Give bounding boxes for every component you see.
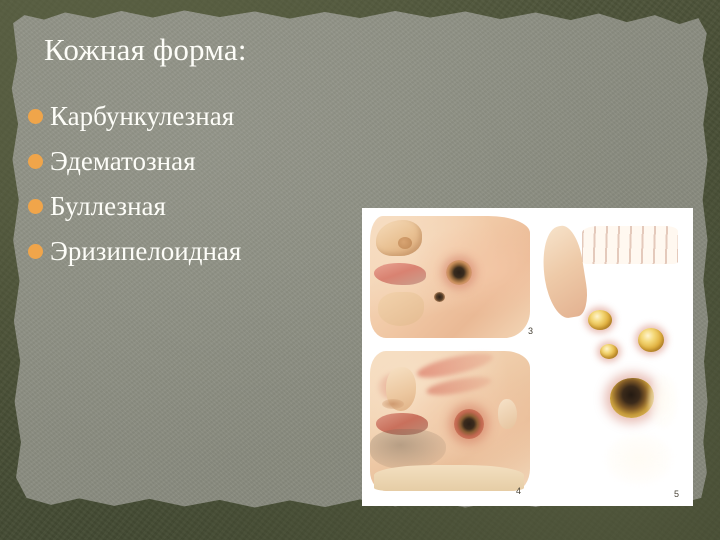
figure-panel-4-frontal-face — [370, 351, 530, 491]
nostril-shape — [398, 237, 412, 249]
list-item-label: Буллезная — [50, 193, 166, 220]
bullet-dot-icon — [28, 109, 43, 124]
list-item[interactable]: Эдематозная — [28, 139, 378, 184]
neck-lesion — [454, 409, 484, 439]
carbuncle-lesion-small — [434, 292, 445, 302]
list-item[interactable]: Эризипелоидная — [28, 229, 378, 274]
figure-panel-3-side-face — [370, 216, 530, 338]
vesicle-lesion — [638, 328, 664, 352]
list-item-label: Карбункулезная — [50, 103, 234, 130]
chin-shape — [378, 292, 424, 326]
figure-label-4: 4 — [516, 486, 521, 496]
vesicle-lesion — [600, 344, 618, 359]
list-item-label: Эдематозная — [50, 148, 196, 175]
list-item[interactable]: Карбункулезная — [28, 94, 378, 139]
slide-canvas: Кожная форма: Карбункулезная Эдематозная… — [0, 0, 720, 540]
medical-illustration[interactable]: 3 4 5 — [362, 208, 693, 506]
nostril-shape — [382, 399, 404, 409]
figure-label-3: 3 — [528, 326, 533, 336]
beard-shading — [370, 429, 446, 469]
lips-shape — [374, 263, 426, 285]
figure-panel-5-hand-forearm — [544, 218, 680, 490]
vesicle-lesion — [588, 310, 612, 330]
carbuncle-lesion-large — [446, 260, 472, 285]
list-item[interactable]: Буллезная — [28, 184, 378, 229]
page-title: Кожная форма: — [44, 32, 247, 68]
bullet-list: Карбункулезная Эдематозная Буллезная Эри… — [28, 94, 378, 274]
slide-content: Кожная форма: Карбункулезная Эдематозная… — [0, 0, 720, 540]
figure-label-5: 5 — [674, 489, 679, 499]
list-item-label: Эризипелоидная — [50, 238, 241, 265]
bullet-dot-icon — [28, 199, 43, 214]
bullet-dot-icon — [28, 244, 43, 259]
ear-shape — [498, 399, 517, 429]
bullet-dot-icon — [28, 154, 43, 169]
edema-highlight — [606, 434, 672, 484]
knuckles-shading — [582, 226, 678, 264]
edema-highlight — [648, 374, 678, 428]
collar-shape — [374, 465, 524, 491]
